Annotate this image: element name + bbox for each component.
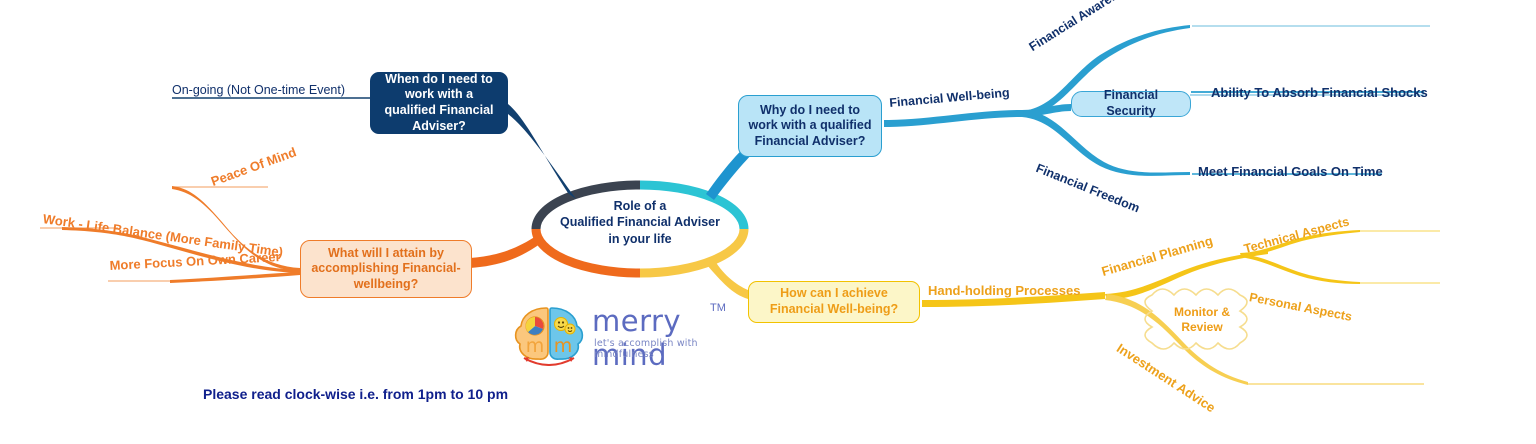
node-label: How can I achieve Financial Well-being? (757, 286, 911, 317)
connector-layer (0, 0, 1536, 444)
leaf-ability-to-absorb-financial-shocks[interactable]: Ability To Absorb Financial Shocks (1211, 85, 1428, 100)
node-how-can-i-achieve[interactable]: How can I achieve Financial Well-being? (748, 281, 920, 323)
merry-mind-logo: m m merry mind TM let's accomplish with … (508, 300, 734, 366)
logo-tagline: let's accomplish with mindfulness (594, 338, 734, 360)
label-hand-holding-processes[interactable]: Hand-holding Processes (928, 283, 1080, 298)
node-label: When do I need to work with a qualified … (379, 72, 499, 135)
leaf-meet-financial-goals-on-time[interactable]: Meet Financial Goals On Time (1198, 164, 1383, 179)
footnote-read-clockwise: Please read clock-wise i.e. from 1pm to … (203, 386, 508, 402)
node-what-will-i-attain[interactable]: What will I attain by accomplishing Fina… (300, 240, 472, 298)
leaf-ongoing-not-one-time-event[interactable]: On-going (Not One-time Event) (172, 83, 345, 97)
node-label: What will I attain by accomplishing Fina… (309, 246, 463, 293)
node-label: Monitor & Review (1174, 305, 1230, 334)
node-label: Why do I need to work with a qualified F… (747, 103, 873, 150)
footnote-label: Please read clock-wise i.e. from 1pm to … (203, 386, 508, 402)
center-line-2: Qualified Financial Adviser (536, 214, 744, 230)
trademark-symbol: TM (710, 302, 726, 314)
leaf-label: Ability To Absorb Financial Shocks (1211, 85, 1428, 100)
node-why-do-i-need-adviser[interactable]: Why do I need to work with a qualified F… (738, 95, 882, 157)
center-topic: Role of a Qualified Financial Adviser in… (536, 198, 744, 247)
node-when-do-i-need-adviser[interactable]: When do I need to work with a qualified … (370, 72, 508, 134)
center-line-1: Role of a (536, 198, 744, 214)
leaf-label: On-going (Not One-time Event) (172, 83, 345, 97)
center-line-3: in your life (536, 231, 744, 247)
svg-text:m: m (554, 335, 573, 357)
node-monitor-and-review[interactable]: Monitor & Review (1156, 305, 1248, 335)
node-label: Financial Security (1078, 88, 1184, 119)
branch-label: Hand-holding Processes (928, 283, 1080, 298)
leaf-label: Meet Financial Goals On Time (1198, 164, 1383, 179)
mindmap-canvas: Role of a Qualified Financial Adviser in… (0, 0, 1536, 444)
svg-text:m: m (526, 335, 545, 357)
node-financial-security[interactable]: Financial Security (1071, 91, 1191, 117)
